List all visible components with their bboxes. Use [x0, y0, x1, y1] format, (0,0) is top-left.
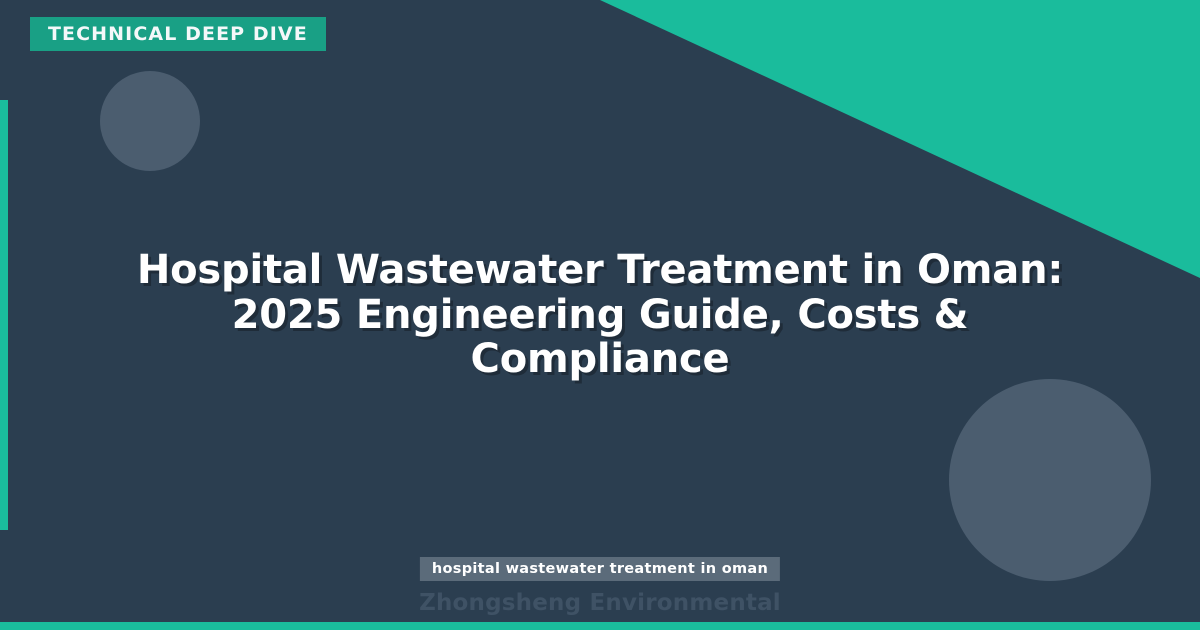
social-card-canvas: TECHNICAL DEEP DIVE Hospital Wastewater … [0, 0, 1200, 630]
keyword-tag: hospital wastewater treatment in oman [420, 557, 780, 581]
page-title: Hospital Wastewater Treatment in Oman: 2… [100, 248, 1100, 382]
hero-title-container: Hospital Wastewater Treatment in Oman: 2… [0, 0, 1200, 630]
keyword-tag-label: hospital wastewater treatment in oman [432, 561, 768, 577]
brand-name: Zhongsheng Environmental [0, 590, 1200, 616]
bottom-teal-bar [0, 622, 1200, 630]
